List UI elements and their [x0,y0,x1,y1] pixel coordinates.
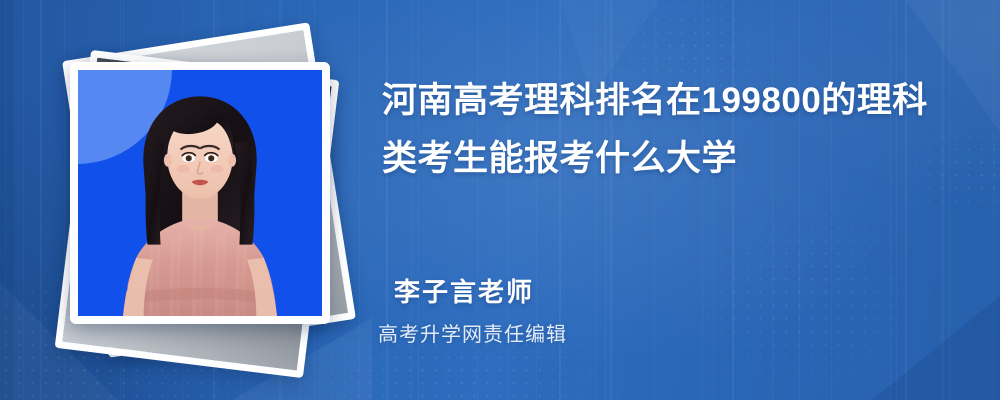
portrait-photo-stack [46,42,346,360]
author-role: 高考升学网责任编辑 [378,318,567,347]
portrait-illustration [78,70,322,316]
portrait-photo-backdrop [78,70,322,316]
article-cover-banner: 河南高考理科排名在199800的理科 类考生能报考什么大学 李子言老师 高考升学… [0,0,1000,400]
page-title-line-1: 河南高考理科排名在199800的理科 [382,72,962,130]
author-name: 李子言老师 [394,272,534,309]
portrait-photo-frame [70,62,330,324]
page-title: 河南高考理科排名在199800的理科 类考生能报考什么大学 [382,72,962,188]
cover-text-column: 河南高考理科排名在199800的理科 类考生能报考什么大学 李子言老师 高考升学… [378,0,978,400]
page-title-line-2: 类考生能报考什么大学 [382,130,962,188]
